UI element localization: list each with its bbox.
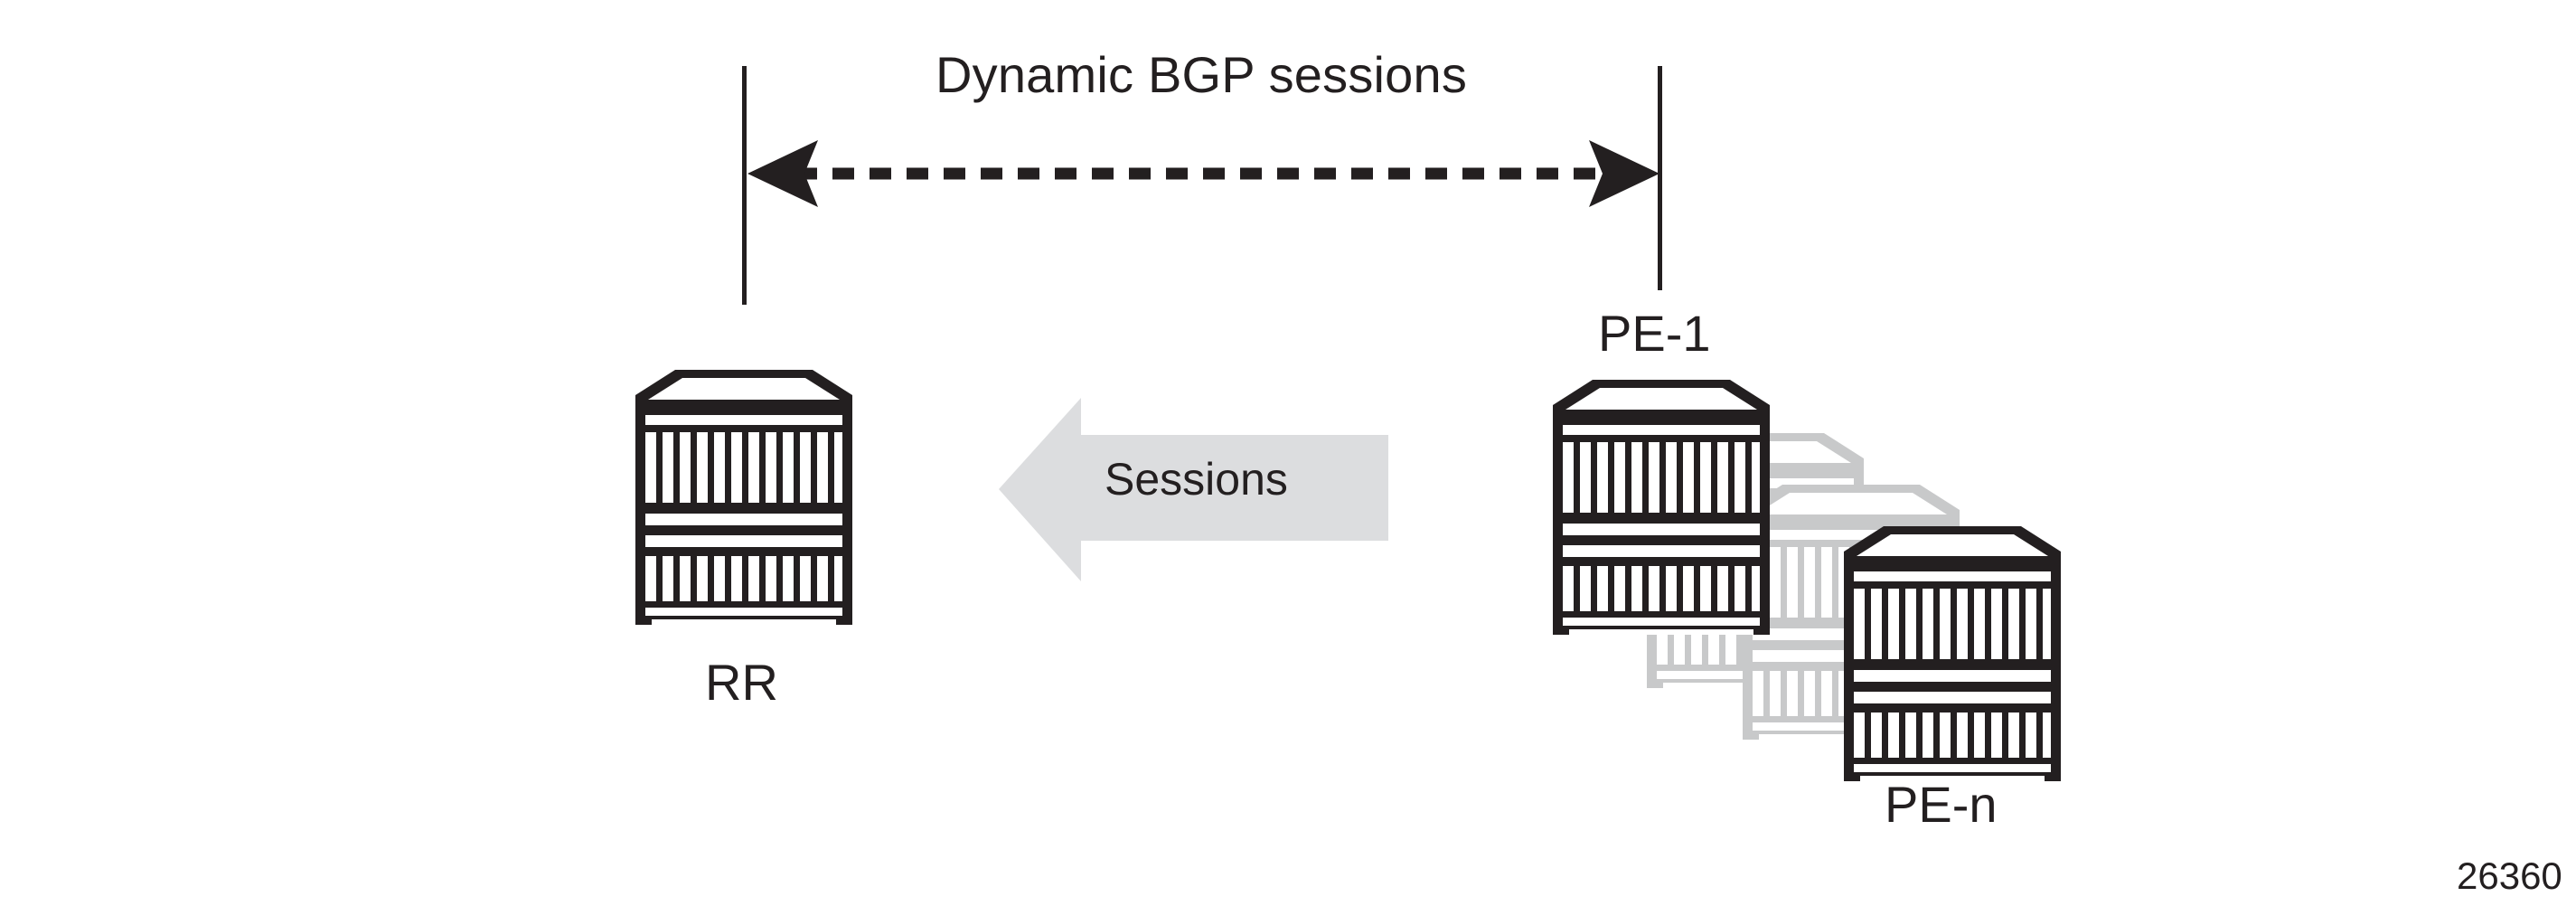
diagram-canvas: Dynamic BGP sessions Sessions RR PE-1 PE… [0,0,2576,906]
sessions-block-arrow [0,0,2576,906]
sessions-label: Sessions [1105,457,1288,502]
